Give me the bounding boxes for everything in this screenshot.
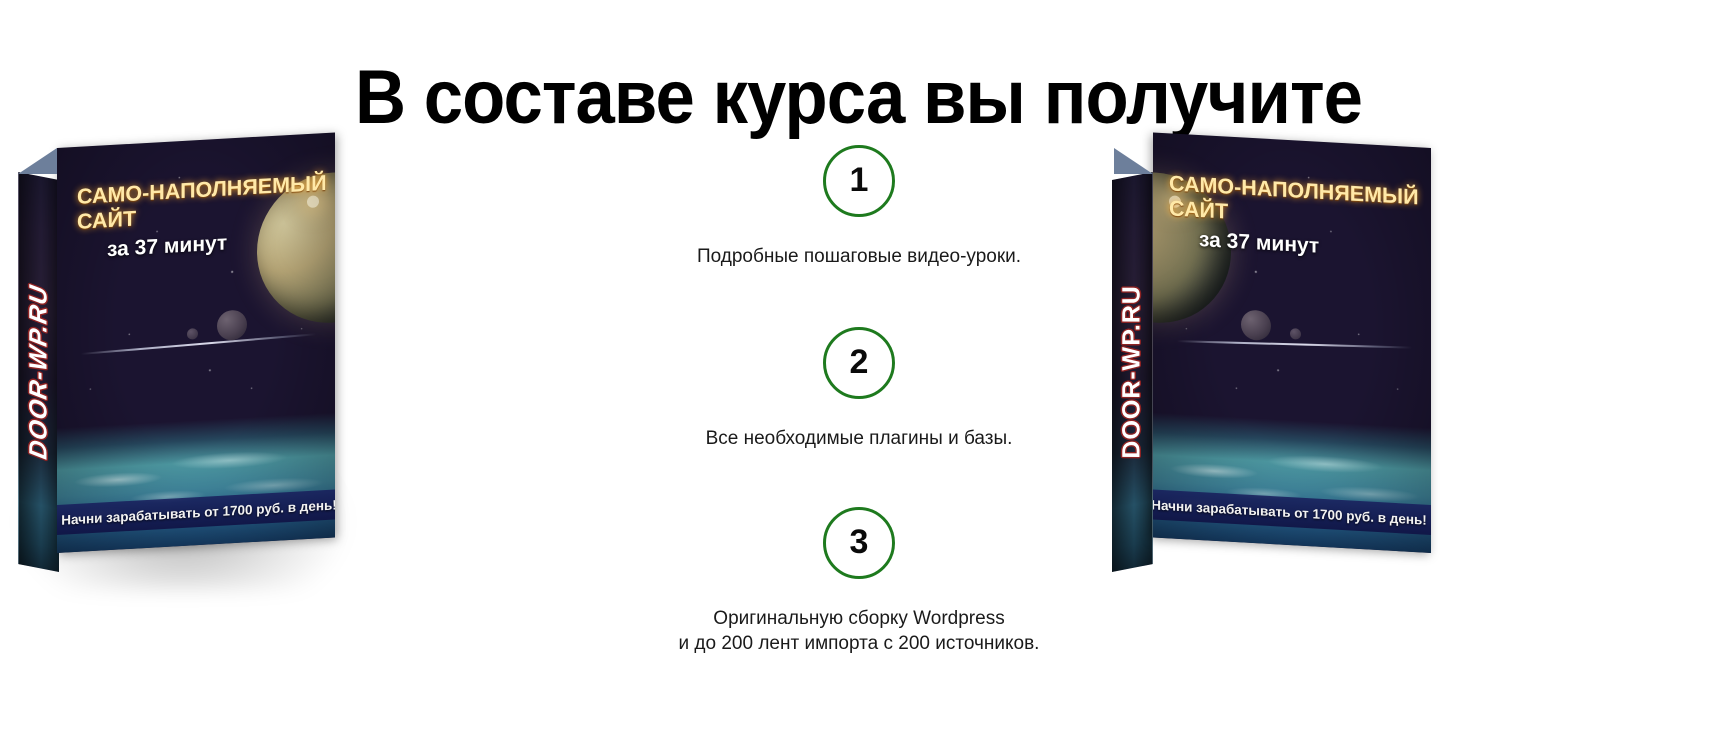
step-number-3: 3 <box>850 525 869 559</box>
step-number-1: 1 <box>850 163 869 197</box>
step-item-1: 1 Подробные пошаговые видео-уроки. <box>559 145 1159 269</box>
step-text-2: Все необходимые плагины и базы. <box>559 426 1159 451</box>
step-text-3: Оригинальную сборку Wordpress и до 200 л… <box>559 606 1159 656</box>
box-spine-left: DOOR-WP.RU <box>18 172 59 572</box>
step-item-2: 2 Все необходимые плагины и базы. <box>559 327 1159 451</box>
step-number-circle-1: 1 <box>823 145 895 217</box>
step-number-circle-3: 3 <box>823 507 895 579</box>
box-top-lid <box>1114 148 1153 174</box>
box-cover-copy: САМО-НАПОЛНЯЕМЫЙ САЙТ за 37 минут <box>1169 171 1423 264</box>
page-title: В составе курса вы получите <box>60 53 1657 143</box>
step-number-circle-2: 2 <box>823 327 895 399</box>
box-front-face: САМО-НАПОЛНЯЕМЫЙ САЙТ за 37 минут Начни … <box>57 132 335 553</box>
step-number-2: 2 <box>850 345 869 379</box>
step-text-3-line1: Оригинальную сборку Wordpress <box>559 606 1159 631</box>
box-cover-copy: САМО-НАПОЛНЯЕМЫЙ САЙТ за 37 минут <box>77 171 327 264</box>
step-text-3-line2: и до 200 лент импорта с 200 источников. <box>559 631 1159 656</box>
box-front-face: САМО-НАПОЛНЯЕМЫЙ САЙТ за 37 минут Начни … <box>1153 132 1431 553</box>
spine-brand-text: DOOR-WP.RU <box>1118 283 1147 462</box>
box-top-lid <box>18 148 57 174</box>
step-text-1: Подробные пошаговые видео-уроки. <box>559 244 1159 269</box>
step-item-3: 3 Оригинальную сборку Wordpress и до 200… <box>559 507 1159 656</box>
steps-list: 1 Подробные пошаговые видео-уроки. 2 Все… <box>559 140 1159 700</box>
box-spine-right: DOOR-WP.RU <box>1112 172 1153 572</box>
spine-brand-text: DOOR-WP.RU <box>25 283 54 462</box>
page-root: В составе курса вы получите DOOR-WP.RU С… <box>0 0 1717 731</box>
